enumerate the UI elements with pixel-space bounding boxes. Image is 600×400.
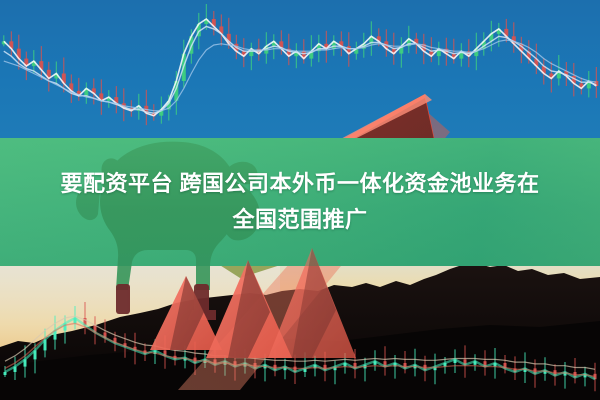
headline-line-1: 要配资平台 跨国公司本外币一体化资金池业务在 bbox=[60, 166, 539, 202]
headline-line-2: 全国范围推广 bbox=[232, 202, 367, 238]
headline-text: 要配资平台 跨国公司本外币一体化资金池业务在 全国范围推广 bbox=[0, 138, 600, 266]
banner-image: 要配资平台 跨国公司本外币一体化资金池业务在 全国范围推广 bbox=[0, 0, 600, 400]
